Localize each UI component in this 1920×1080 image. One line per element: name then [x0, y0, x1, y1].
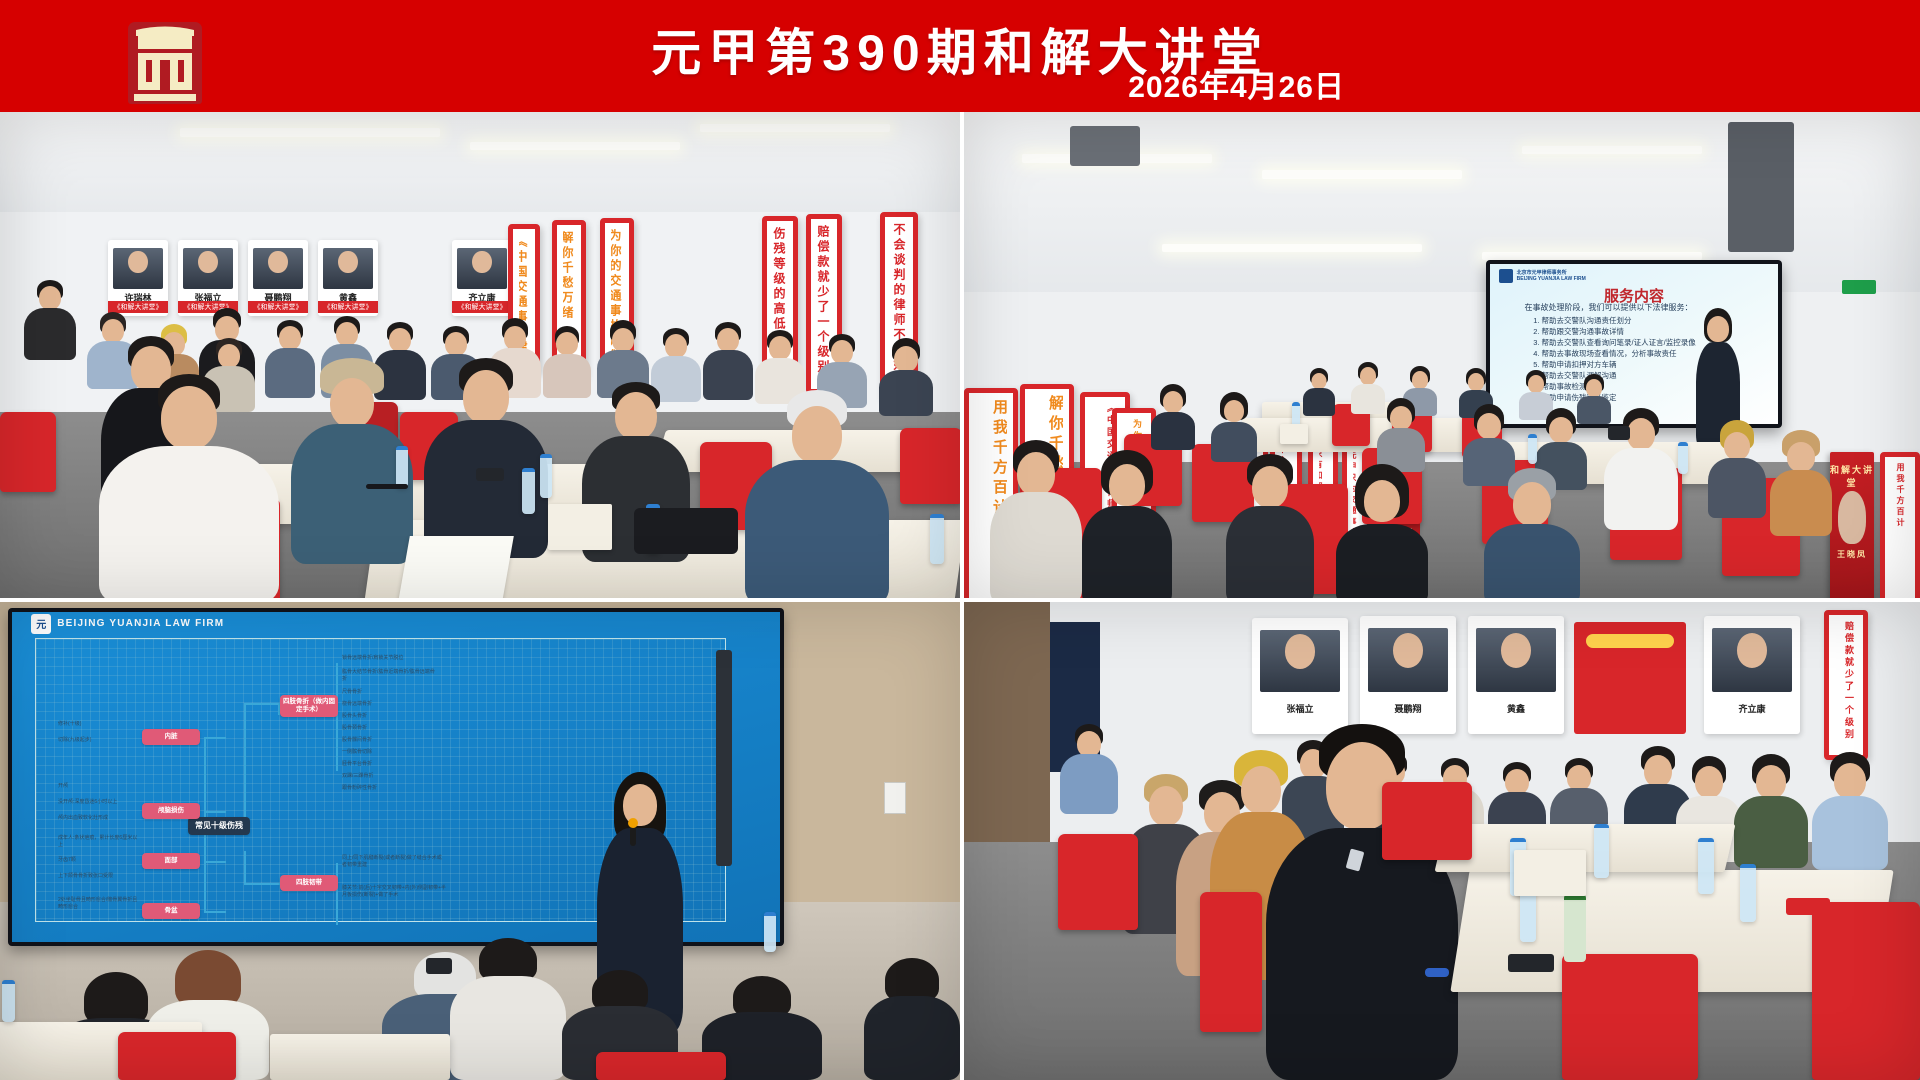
- firm-mark-icon: 元: [31, 614, 51, 634]
- attendee-foreground-main: [1262, 724, 1462, 1080]
- attendee: [1376, 398, 1426, 470]
- tissue-box: [548, 504, 612, 550]
- water-bottle: [1678, 442, 1688, 474]
- standee-text: 用我千方百计: [1891, 463, 1909, 602]
- water-bottle: [1594, 824, 1609, 878]
- attendee: [1768, 430, 1834, 534]
- water-bottle: [1698, 838, 1714, 894]
- smartphone: [426, 958, 452, 974]
- chair: [596, 1052, 726, 1080]
- exit-sign-icon: [1842, 280, 1876, 294]
- front-row-attendees-shot: 张福立 聂鹏翔 黄鑫 齐立康 赔偿款就少了一个级别: [962, 602, 1920, 1080]
- chair: [1200, 892, 1262, 1032]
- chair: [1562, 954, 1698, 1080]
- lawyer-portrait-board: 聂鹏翔 《和解大讲堂》: [248, 240, 308, 316]
- water-bottle: [1740, 864, 1756, 922]
- lawyer-portrait-board: 齐立康: [1704, 616, 1800, 734]
- mindmap-leaf: 胫骨平台骨折: [342, 761, 438, 768]
- attendee: [20, 280, 80, 360]
- tissue-box: [1280, 424, 1308, 444]
- mindmap-node: 内脏: [142, 729, 200, 745]
- attendee-foreground: [1334, 464, 1430, 602]
- attendee: [1150, 384, 1196, 448]
- mindmap-leaf: 股骨颈骨折: [342, 725, 438, 732]
- panel-top-left: 许瑞林 《和解大讲堂》 张福立 《和解大讲堂》 聂鹏翔 《和解大讲堂》 黄鑫 《…: [0, 112, 962, 602]
- water-bottle: [396, 446, 408, 488]
- mindmap-leaf: 修补(十级): [58, 721, 138, 728]
- chair: [900, 428, 962, 504]
- lawyer-portrait-board: 聂鹏翔: [1360, 616, 1456, 734]
- portrait-name: 聂鹏翔: [1360, 702, 1456, 715]
- mindmap-leaf: 2处坐耻骨且畸形愈合/髂骨翼骨折且畸形愈合: [58, 897, 142, 911]
- slide-brand-en: BEIJING YUANJIA LAW FIRM: [1517, 276, 1586, 282]
- wall-switch-panel: [884, 782, 906, 814]
- page-title: 元甲第390期和解大讲堂: [0, 22, 1920, 84]
- attendee: [1706, 420, 1768, 516]
- mindmap-node: 四肢韧带: [280, 875, 338, 891]
- mindmap-leaf: 没开颅:深度昏迷6小时以上: [58, 799, 140, 806]
- chair: [1382, 782, 1472, 860]
- conference-table: [270, 1034, 450, 1080]
- slide-header-bar: 元 BEIJING YUANJIA LAW FIRM: [12, 612, 780, 635]
- tissue-box: [1514, 850, 1586, 896]
- chair: [1812, 902, 1920, 1080]
- mindmap-leaf: 切除(九级起步): [58, 737, 138, 744]
- mindmap-leaf: 成年人:条状疤痕，累计长度6厘米以上: [58, 835, 140, 849]
- water-bottle: [930, 514, 944, 564]
- lawyer-portrait-board: 齐立康 《和解大讲堂》: [452, 240, 512, 316]
- standee-banner: 用我千方百计: [1880, 452, 1920, 602]
- ribbon-title: 和解大讲堂: [1830, 463, 1874, 489]
- mindmap-leaf: 锁骨远端骨折/肩锁关节脱位: [342, 655, 438, 662]
- microphone-head-icon: [628, 818, 638, 828]
- lawyer-portrait-board: 许瑞林 《和解大讲堂》: [108, 240, 168, 316]
- event-date: 2026年4月26日: [1128, 62, 1345, 106]
- air-vent: [1070, 126, 1140, 166]
- speaker-column: [716, 650, 732, 866]
- wristband: [1425, 968, 1449, 977]
- ribbon-name: 王晓凤: [1830, 549, 1874, 560]
- panel-bottom-right: 张福立 聂鹏翔 黄鑫 齐立康 赔偿款就少了一个级别: [962, 602, 1920, 1080]
- lawyer-portrait-board: 张福立: [1252, 618, 1348, 734]
- mindmap-presentation-shot: 元 BEIJING YUANJIA LAW FIRM: [0, 602, 962, 1080]
- water-bottle: [764, 912, 776, 952]
- attendee-foreground: [1080, 450, 1174, 602]
- chair: [118, 1032, 236, 1080]
- slide-brand-en: BEIJING YUANJIA LAW FIRM: [57, 618, 224, 629]
- pen: [366, 484, 408, 489]
- mindmap-leaf: 上下颌骨骨折致张口受限: [58, 873, 140, 880]
- mindmap-leaf: 跟骨粉碎性骨折: [342, 785, 438, 792]
- attendee: [1732, 754, 1810, 868]
- water-bottle: [540, 454, 552, 498]
- mindmap-leaf: 尺骨骨折: [342, 689, 438, 696]
- lawyer-portrait-board: 张福立 《和解大讲堂》: [178, 240, 238, 316]
- standee-banner: 赔偿款就少了一个级别: [1824, 610, 1868, 760]
- mindmap-leaf: 膝关节:前(后)十字交叉韧带+内(外)侧副韧带+半月板损伤(断裂)+做了手术: [342, 885, 446, 899]
- mindmap-node: 面部: [142, 853, 200, 869]
- attendee: [1210, 392, 1258, 460]
- water-bottle: [522, 468, 535, 514]
- smartphone: [1608, 426, 1630, 440]
- mindmap-leaf: 同上/同下肌腱断裂(或者断裂)做了缝合手术或者韧带重建: [342, 855, 446, 869]
- attendee: [1810, 752, 1890, 870]
- mindmap-leaf: 股骨髁间骨折: [342, 737, 438, 744]
- mindmap-root-node: 常见十级伤残: [188, 817, 250, 835]
- attendee-back: [862, 958, 962, 1080]
- attendee-foreground: [94, 374, 284, 602]
- standee-text: 赔偿款就少了一个级别: [1835, 621, 1857, 749]
- tea-bottle: [1564, 894, 1586, 962]
- panel-top-right: 北京市元甲律师事务所 BEIJING YUANJIA LAW FIRM 服务内容…: [962, 112, 1920, 602]
- speaker-ribbon-banner: 和解大讲堂 王晓凤: [1830, 452, 1874, 602]
- firm-mark-icon: [1499, 269, 1513, 283]
- attendee-back-with-phone: [448, 938, 568, 1080]
- chair: [1058, 834, 1138, 930]
- panel-bottom-left: 元 BEIJING YUANJIA LAW FIRM: [0, 602, 962, 1080]
- attendee-foreground: [1224, 454, 1316, 602]
- lecture-hall-shot: 北京市元甲律师事务所 BEIJING YUANJIA LAW FIRM 服务内容…: [962, 112, 1920, 602]
- panel-seam-horizontal: [0, 598, 1920, 602]
- mindmap-leaf: 开颅: [58, 783, 138, 790]
- smartphone: [476, 468, 504, 481]
- handout-paper: [398, 536, 514, 602]
- attendee-foreground: [988, 440, 1084, 602]
- mindmap-leaf: 牙齿7颗: [58, 857, 140, 864]
- lawyer-portrait-board: 黄鑫: [1468, 616, 1564, 734]
- mindmap-node: 骨盆: [142, 903, 200, 919]
- portrait-name: 齐立康: [1704, 702, 1800, 715]
- portrait-name: 黄鑫: [1468, 702, 1564, 715]
- event-poster: 元甲第390期和解大讲堂 2026年4月26日: [0, 0, 1920, 1080]
- chair: [0, 412, 56, 492]
- smartphone: [1786, 898, 1830, 915]
- yuanjia-seal-logo: [128, 22, 202, 104]
- attendee: [1058, 724, 1120, 814]
- mindmap-node: 颅脑损伤: [142, 803, 200, 819]
- mindmap-leaf: 一侧髌骨切除: [342, 749, 438, 756]
- bag: [634, 508, 738, 554]
- seal-glyph-icon: [128, 22, 202, 104]
- mindmap-leaf: 桡骨远端骨折: [342, 701, 438, 708]
- slide-lead: 在事故处理阶段，我们可以提供以下法律服务：: [1525, 302, 1693, 313]
- poster-accent: [1586, 634, 1674, 648]
- portrait-subtitle: 《和解大讲堂》: [452, 301, 512, 313]
- water-bottle: [1528, 434, 1537, 464]
- attendee-foreground: [1482, 468, 1582, 602]
- mindmap-node: 四肢骨折（做内固定手术）: [280, 695, 338, 717]
- mindmap-leaf: 肱骨大结节骨折/肱骨近端骨折/肱骨远端骨折: [342, 669, 438, 683]
- air-vent: [1728, 122, 1794, 252]
- portrait-subtitle: 《和解大讲堂》: [318, 301, 378, 313]
- mindmap-leaf: 股骨头骨折: [342, 713, 438, 720]
- ribbon-portrait: [1838, 491, 1866, 544]
- portrait-name: 张福立: [1252, 702, 1348, 715]
- panel-seam-vertical: [960, 112, 964, 1080]
- attendee: [1302, 368, 1336, 414]
- lawyer-portrait-board: 黄鑫 《和解大讲堂》: [318, 240, 378, 316]
- header-banner: 元甲第390期和解大讲堂 2026年4月26日: [0, 0, 1920, 112]
- audience-wide-shot: 许瑞林 《和解大讲堂》 张福立 《和解大讲堂》 聂鹏翔 《和解大讲堂》 黄鑫 《…: [0, 112, 962, 602]
- mindmap-leaf: 颅内出血致软化灶形成: [58, 815, 140, 822]
- mindmap-leaf: 双踝/三踝骨折: [342, 773, 438, 780]
- attendee-raised-phone: [1602, 408, 1680, 528]
- smartphone: [1508, 954, 1554, 972]
- attendee: [700, 322, 756, 398]
- water-bottle: [2, 980, 15, 1022]
- slide-brand: 北京市元甲律师事务所 BEIJING YUANJIA LAW FIRM: [1499, 269, 1586, 283]
- attendee-foreground: [742, 390, 892, 602]
- attendee-foreground: [420, 358, 552, 554]
